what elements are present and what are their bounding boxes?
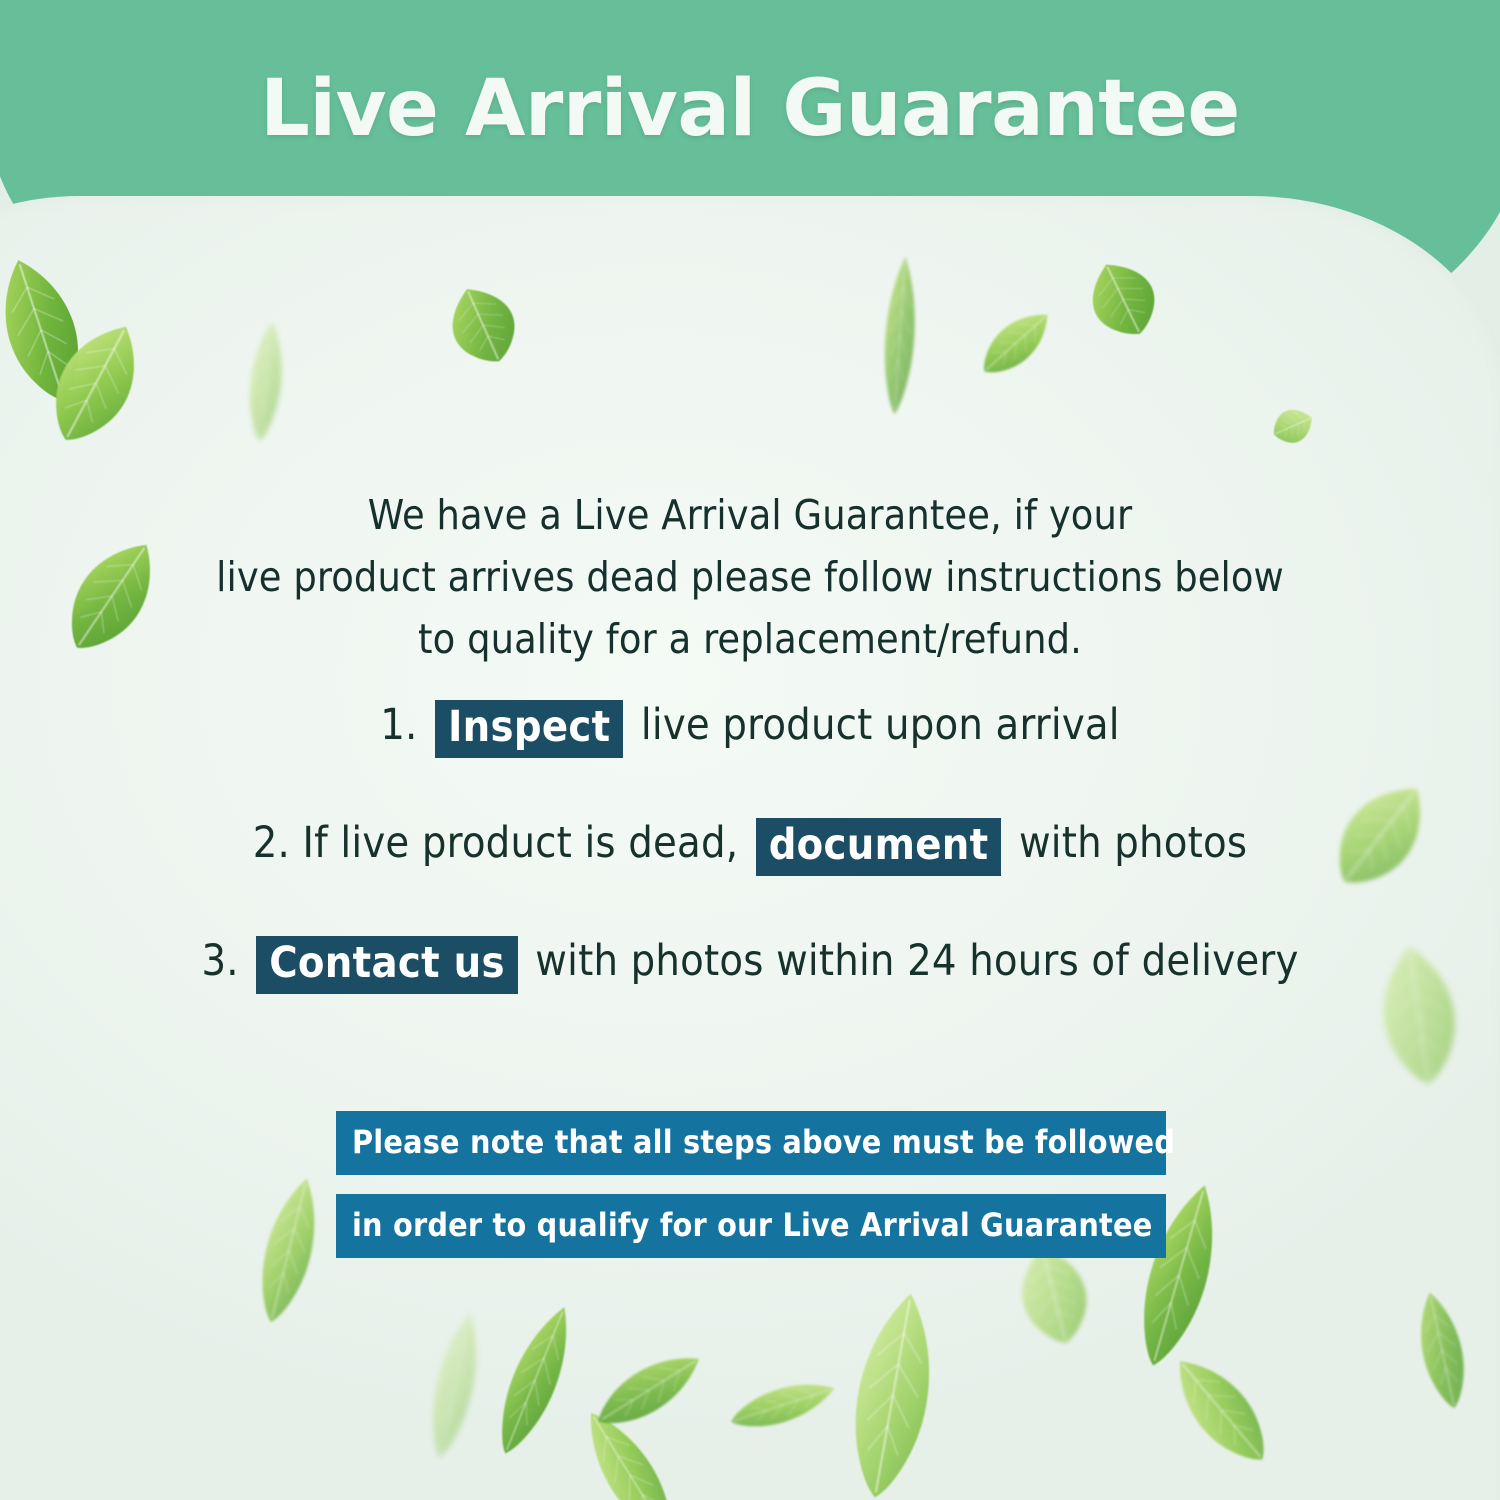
intro-line-2: live product arrives dead please follow …: [140, 546, 1360, 608]
step-2-after: with photos: [1019, 818, 1247, 868]
poster-content: Live Arrival Guarantee We have a Live Ar…: [0, 0, 1500, 1500]
intro-line-3: to quality for a replacement/refund.: [140, 608, 1360, 670]
step-2-before: If live product is dead,: [303, 818, 739, 868]
note-line-2: in order to qualify for our Live Arrival…: [336, 1194, 1166, 1258]
intro-paragraph: We have a Live Arrival Guarantee, if you…: [140, 484, 1360, 670]
step-item-3: 3. Contact us with photos within 24 hour…: [0, 936, 1500, 994]
note-line-1: Please note that all steps above must be…: [336, 1111, 1166, 1175]
step-1-after: live product upon arrival: [641, 700, 1120, 750]
step-1-number: 1.: [380, 700, 417, 750]
live-arrival-guarantee-poster: Live Arrival Guarantee We have a Live Ar…: [0, 0, 1500, 1500]
step-3-number: 3.: [201, 936, 238, 986]
step-3-highlight[interactable]: Contact us: [256, 936, 518, 994]
step-item-1: 1. Inspect live product upon arrival: [0, 700, 1500, 758]
disclaimer-notes: Please note that all steps above must be…: [336, 1111, 1166, 1258]
intro-line-1: We have a Live Arrival Guarantee, if you…: [140, 484, 1360, 546]
page-title: Live Arrival Guarantee: [0, 70, 1500, 148]
steps-list: 1. Inspect live product upon arrival 2. …: [0, 700, 1500, 994]
step-2-number: 2.: [253, 818, 290, 868]
step-3-after: with photos within 24 hours of delivery: [535, 936, 1298, 986]
step-2-highlight[interactable]: document: [756, 818, 1002, 876]
step-1-highlight[interactable]: Inspect: [435, 700, 623, 758]
step-item-2: 2. If live product is dead, document wit…: [0, 818, 1500, 876]
